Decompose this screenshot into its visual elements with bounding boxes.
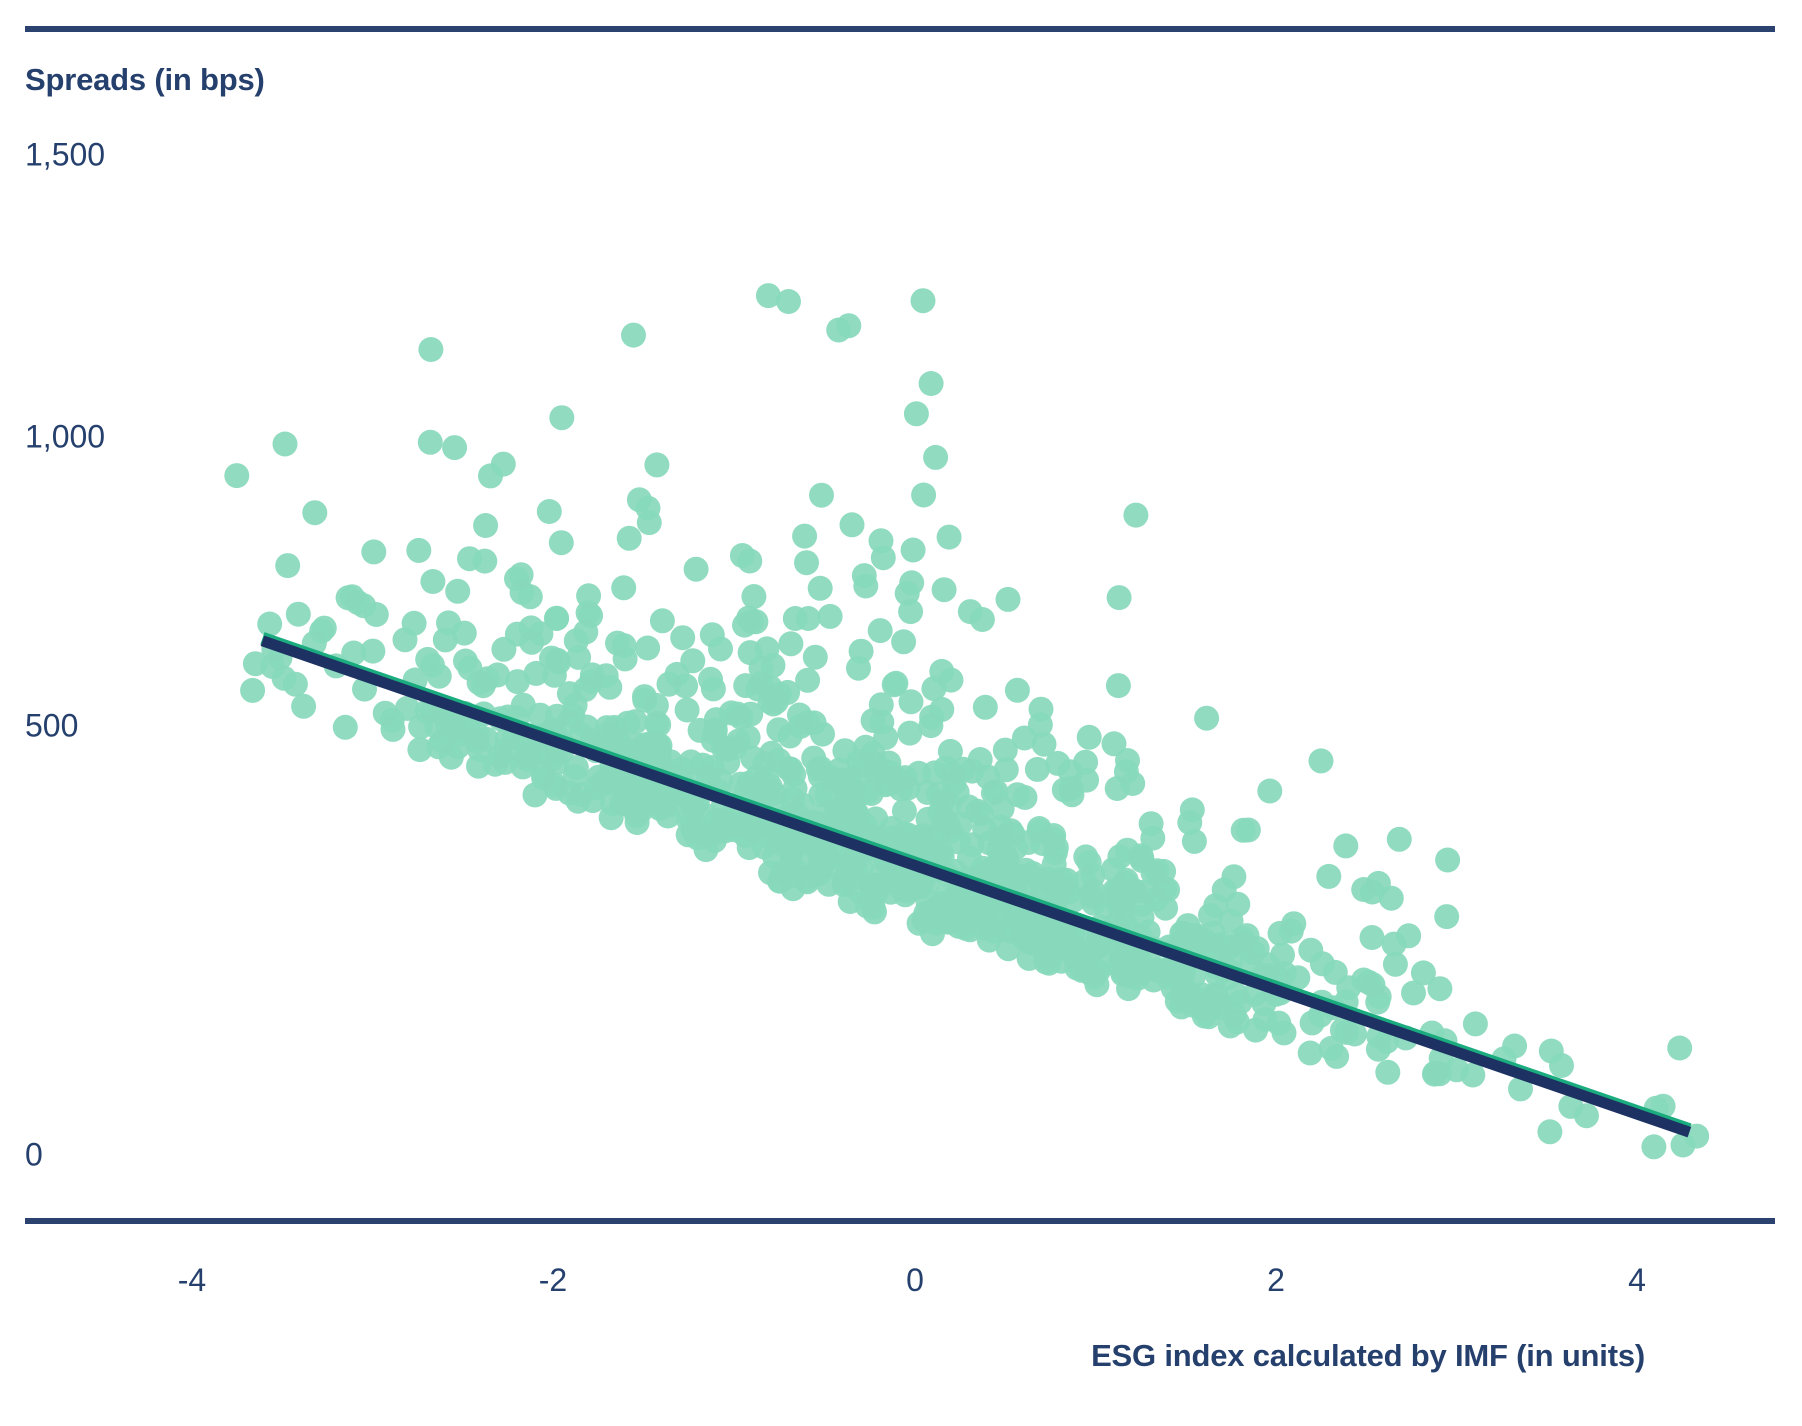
scatter-point	[224, 463, 249, 488]
scatter-point	[1334, 1020, 1359, 1045]
scatter-point	[749, 671, 774, 696]
scatter-point	[1435, 848, 1460, 873]
scatter-point	[1153, 958, 1178, 983]
scatter-point	[1058, 759, 1083, 784]
scatter-point	[932, 577, 957, 602]
scatter-point	[935, 810, 960, 835]
scatter-point	[859, 875, 884, 900]
scatter-point	[491, 452, 516, 477]
scatter-point	[899, 689, 924, 714]
scatter-point	[361, 539, 386, 564]
scatter-point	[891, 629, 916, 654]
scatter-point	[1434, 904, 1459, 929]
scatter-point	[580, 662, 605, 687]
scatter-point	[970, 607, 995, 632]
scatter-point	[685, 825, 710, 850]
scatter-point	[809, 483, 834, 508]
scatter-point	[1077, 725, 1102, 750]
scatter-point	[934, 756, 959, 781]
scatter-point	[701, 676, 726, 701]
scatter-point	[794, 550, 819, 575]
scatter-point	[257, 612, 282, 637]
scatter-point	[283, 672, 308, 697]
scatter-point	[445, 579, 470, 604]
scatter-point	[737, 549, 762, 574]
scatter-point	[898, 599, 923, 624]
scatter-point	[418, 430, 443, 455]
scatter-point	[1033, 945, 1058, 970]
scatter-point	[442, 435, 467, 460]
scatter-point	[929, 659, 954, 684]
scatter-point	[273, 432, 298, 457]
scatter-point	[1298, 1041, 1323, 1066]
scatter-plot-canvas	[0, 0, 1802, 1426]
scatter-point	[901, 538, 926, 563]
scatter-point	[613, 646, 638, 671]
scatter-point	[930, 789, 955, 814]
scatter-point	[802, 710, 827, 735]
scatter-point	[756, 283, 781, 308]
scatter-point	[1111, 889, 1136, 914]
scatter-point	[302, 500, 327, 525]
scatter-point	[286, 602, 311, 627]
scatter-point	[1175, 979, 1200, 1004]
scatter-point	[549, 405, 574, 430]
scatter-point	[1000, 919, 1025, 944]
scatter-point	[1310, 951, 1335, 976]
scatter-point	[634, 786, 659, 811]
scatter-point	[573, 620, 598, 645]
scatter-point	[904, 401, 929, 426]
scatter-point	[1153, 896, 1178, 921]
scatter-point	[426, 734, 451, 759]
scatter-point	[775, 680, 800, 705]
scatter-point	[563, 693, 588, 718]
scatter-point	[973, 695, 998, 720]
scatter-point	[275, 553, 300, 578]
scatter-point	[869, 710, 894, 735]
scatter-point	[1351, 877, 1376, 902]
scatter-point	[1300, 1010, 1325, 1035]
scatter-point	[1144, 858, 1169, 883]
scatter-point	[452, 621, 477, 646]
scatter-point	[467, 737, 492, 762]
scatter-point	[549, 530, 574, 555]
scatter-point	[519, 630, 544, 655]
scatter-point	[1309, 748, 1334, 773]
scatter-point	[767, 831, 792, 856]
scatter-point	[611, 575, 636, 600]
scatter-point	[849, 639, 874, 664]
scatter-point	[741, 584, 766, 609]
scatter-point	[943, 895, 968, 920]
scatter-point	[617, 526, 642, 551]
scatter-point	[360, 639, 385, 664]
scatter-point	[467, 670, 492, 695]
scatter-point	[291, 694, 316, 719]
scatter-point	[537, 499, 562, 524]
scatter-point	[758, 860, 783, 885]
scatter-point	[1463, 1011, 1488, 1036]
scatter-point	[457, 546, 482, 571]
scatter-point	[965, 799, 990, 824]
scatter-point	[406, 538, 431, 563]
scatter-point	[703, 720, 728, 745]
scatter-point	[911, 288, 936, 313]
scatter-point	[333, 715, 358, 740]
scatter-point	[979, 856, 1004, 881]
scatter-point	[1667, 1036, 1692, 1061]
scatter-point	[1230, 926, 1255, 951]
scatter-point	[1268, 921, 1293, 946]
scatter-point	[1387, 827, 1412, 852]
scatter-point	[1028, 712, 1053, 737]
scatter-point	[806, 757, 831, 782]
scatter-point	[1123, 503, 1148, 528]
scatter-point	[402, 611, 427, 636]
scatter-point	[544, 606, 569, 631]
scatter-point	[505, 669, 530, 694]
scatter-point	[635, 636, 660, 661]
scatter-point	[1177, 810, 1202, 835]
scatter-point	[418, 337, 443, 362]
scatter-point	[1316, 864, 1341, 889]
scatter-point	[818, 604, 843, 629]
scatter-point	[808, 576, 833, 601]
scatter-point	[868, 618, 893, 643]
scatter-point	[1041, 823, 1066, 848]
scatter-point-group	[224, 283, 1709, 1159]
scatter-point	[792, 524, 817, 549]
scatter-point	[240, 678, 265, 703]
scatter-point	[1574, 1103, 1599, 1128]
scatter-point	[838, 889, 863, 914]
scatter-point	[708, 636, 733, 661]
scatter-point	[1120, 771, 1145, 796]
scatter-point	[1396, 923, 1421, 948]
scatter-point	[937, 525, 962, 550]
scatter-point	[1222, 1002, 1247, 1027]
scatter-point	[1641, 1134, 1666, 1159]
scatter-point	[673, 673, 698, 698]
scatter-point	[846, 749, 871, 774]
scatter-point	[647, 738, 672, 763]
scatter-point	[853, 574, 878, 599]
scatter-point	[725, 702, 750, 727]
scatter-point	[907, 911, 932, 936]
scatter-point	[869, 528, 894, 553]
scatter-point	[621, 323, 646, 348]
scatter-point	[975, 765, 1000, 790]
scatter-point	[826, 318, 851, 343]
scatter-point	[1361, 972, 1386, 997]
scatter-point	[528, 703, 553, 728]
scatter-point	[1360, 925, 1385, 950]
scatter-point	[515, 747, 540, 772]
scatter-point	[911, 483, 936, 508]
scatter-point	[312, 616, 337, 641]
scatter-point	[1427, 1061, 1452, 1086]
scatter-point	[1077, 850, 1102, 875]
scatter-point	[605, 726, 630, 751]
scatter-point	[919, 705, 944, 730]
scatter-point	[815, 783, 840, 808]
scatter-point	[636, 496, 661, 521]
scatter-point	[1236, 818, 1261, 843]
scatter-point	[680, 648, 705, 673]
scatter-point	[427, 664, 452, 689]
scatter-point	[336, 585, 361, 610]
scatter-point	[650, 608, 675, 633]
scatter-point	[1102, 731, 1127, 756]
scatter-point	[1411, 960, 1436, 985]
scatter-point	[778, 631, 803, 656]
scatter-point	[778, 724, 803, 749]
scatter-point	[840, 512, 865, 537]
scatter-point	[1106, 673, 1131, 698]
scatter-point	[510, 580, 535, 605]
scatter-point	[1257, 779, 1282, 804]
scatter-point	[1539, 1039, 1564, 1064]
scatter-point	[919, 371, 944, 396]
scatter-point	[761, 781, 786, 806]
scatter-point	[899, 570, 924, 595]
scatter-point	[420, 569, 445, 594]
scatter-point	[395, 696, 420, 721]
scatter-point	[644, 452, 669, 477]
scatter-point	[1194, 706, 1219, 731]
scatter-point	[1203, 893, 1228, 918]
scatter-point	[1671, 1133, 1696, 1158]
scatter-point	[996, 587, 1021, 612]
scatter-point	[923, 445, 948, 470]
scatter-point	[1537, 1119, 1562, 1144]
scatter-point	[1375, 1060, 1400, 1085]
scatter-point	[803, 645, 828, 670]
scatter-point	[877, 760, 902, 785]
scatter-point	[545, 648, 570, 673]
scatter-point	[1192, 928, 1217, 953]
scatter-point	[491, 637, 516, 662]
scatter-point	[1107, 585, 1132, 610]
scatter-point	[1333, 833, 1358, 858]
scatter-point	[684, 557, 709, 582]
scatter-point	[373, 701, 398, 726]
scatter-point	[644, 693, 669, 718]
scatter-point	[796, 606, 821, 631]
scatter-point	[670, 625, 695, 650]
scatter-point	[722, 735, 747, 760]
scatter-point	[716, 812, 741, 837]
scatter-point	[1076, 939, 1101, 964]
scatter-point	[732, 613, 757, 638]
scatter-point	[473, 513, 498, 538]
scatter-point	[1005, 678, 1030, 703]
scatter-point	[557, 781, 582, 806]
scatter-point	[364, 602, 389, 627]
scatter-point	[816, 872, 841, 897]
